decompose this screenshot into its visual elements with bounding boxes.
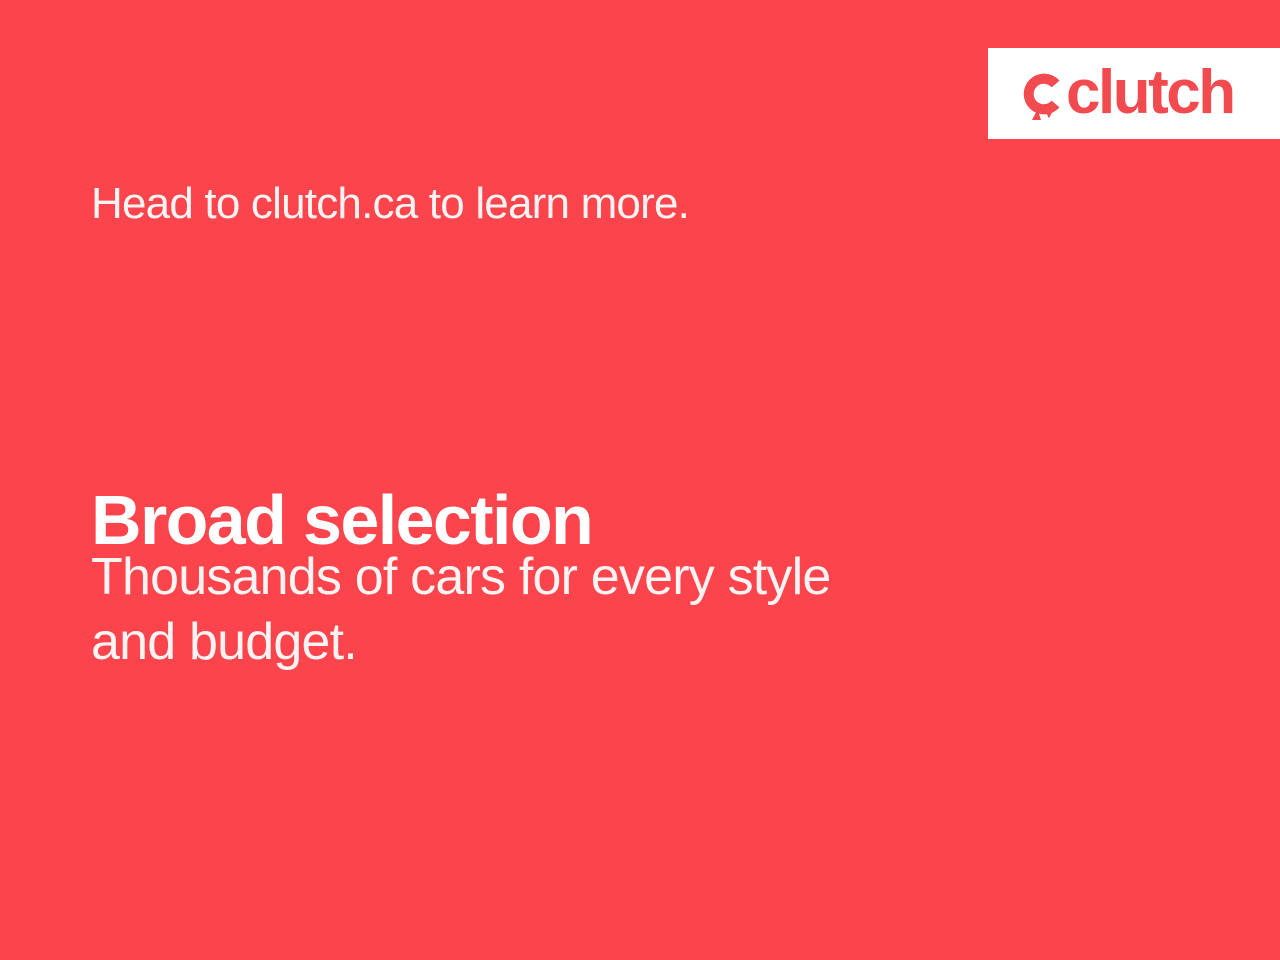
subhead-line-1: Thousands of cars for every style: [91, 545, 830, 610]
clutch-logo-plate: clutch: [988, 48, 1280, 139]
clutch-logo-lockup[interactable]: clutch: [1018, 63, 1234, 125]
subhead-text: Thousands of cars for every style and bu…: [91, 545, 830, 675]
clutch-wordmark: clutch: [1066, 62, 1234, 124]
clutch-c-mark-icon: [1018, 68, 1065, 120]
eyebrow-text: Head to clutch.ca to learn more.: [91, 180, 689, 228]
subhead-line-2: and budget.: [91, 610, 830, 675]
promo-slide: clutch Head to clutch.ca to learn more. …: [0, 0, 1280, 960]
